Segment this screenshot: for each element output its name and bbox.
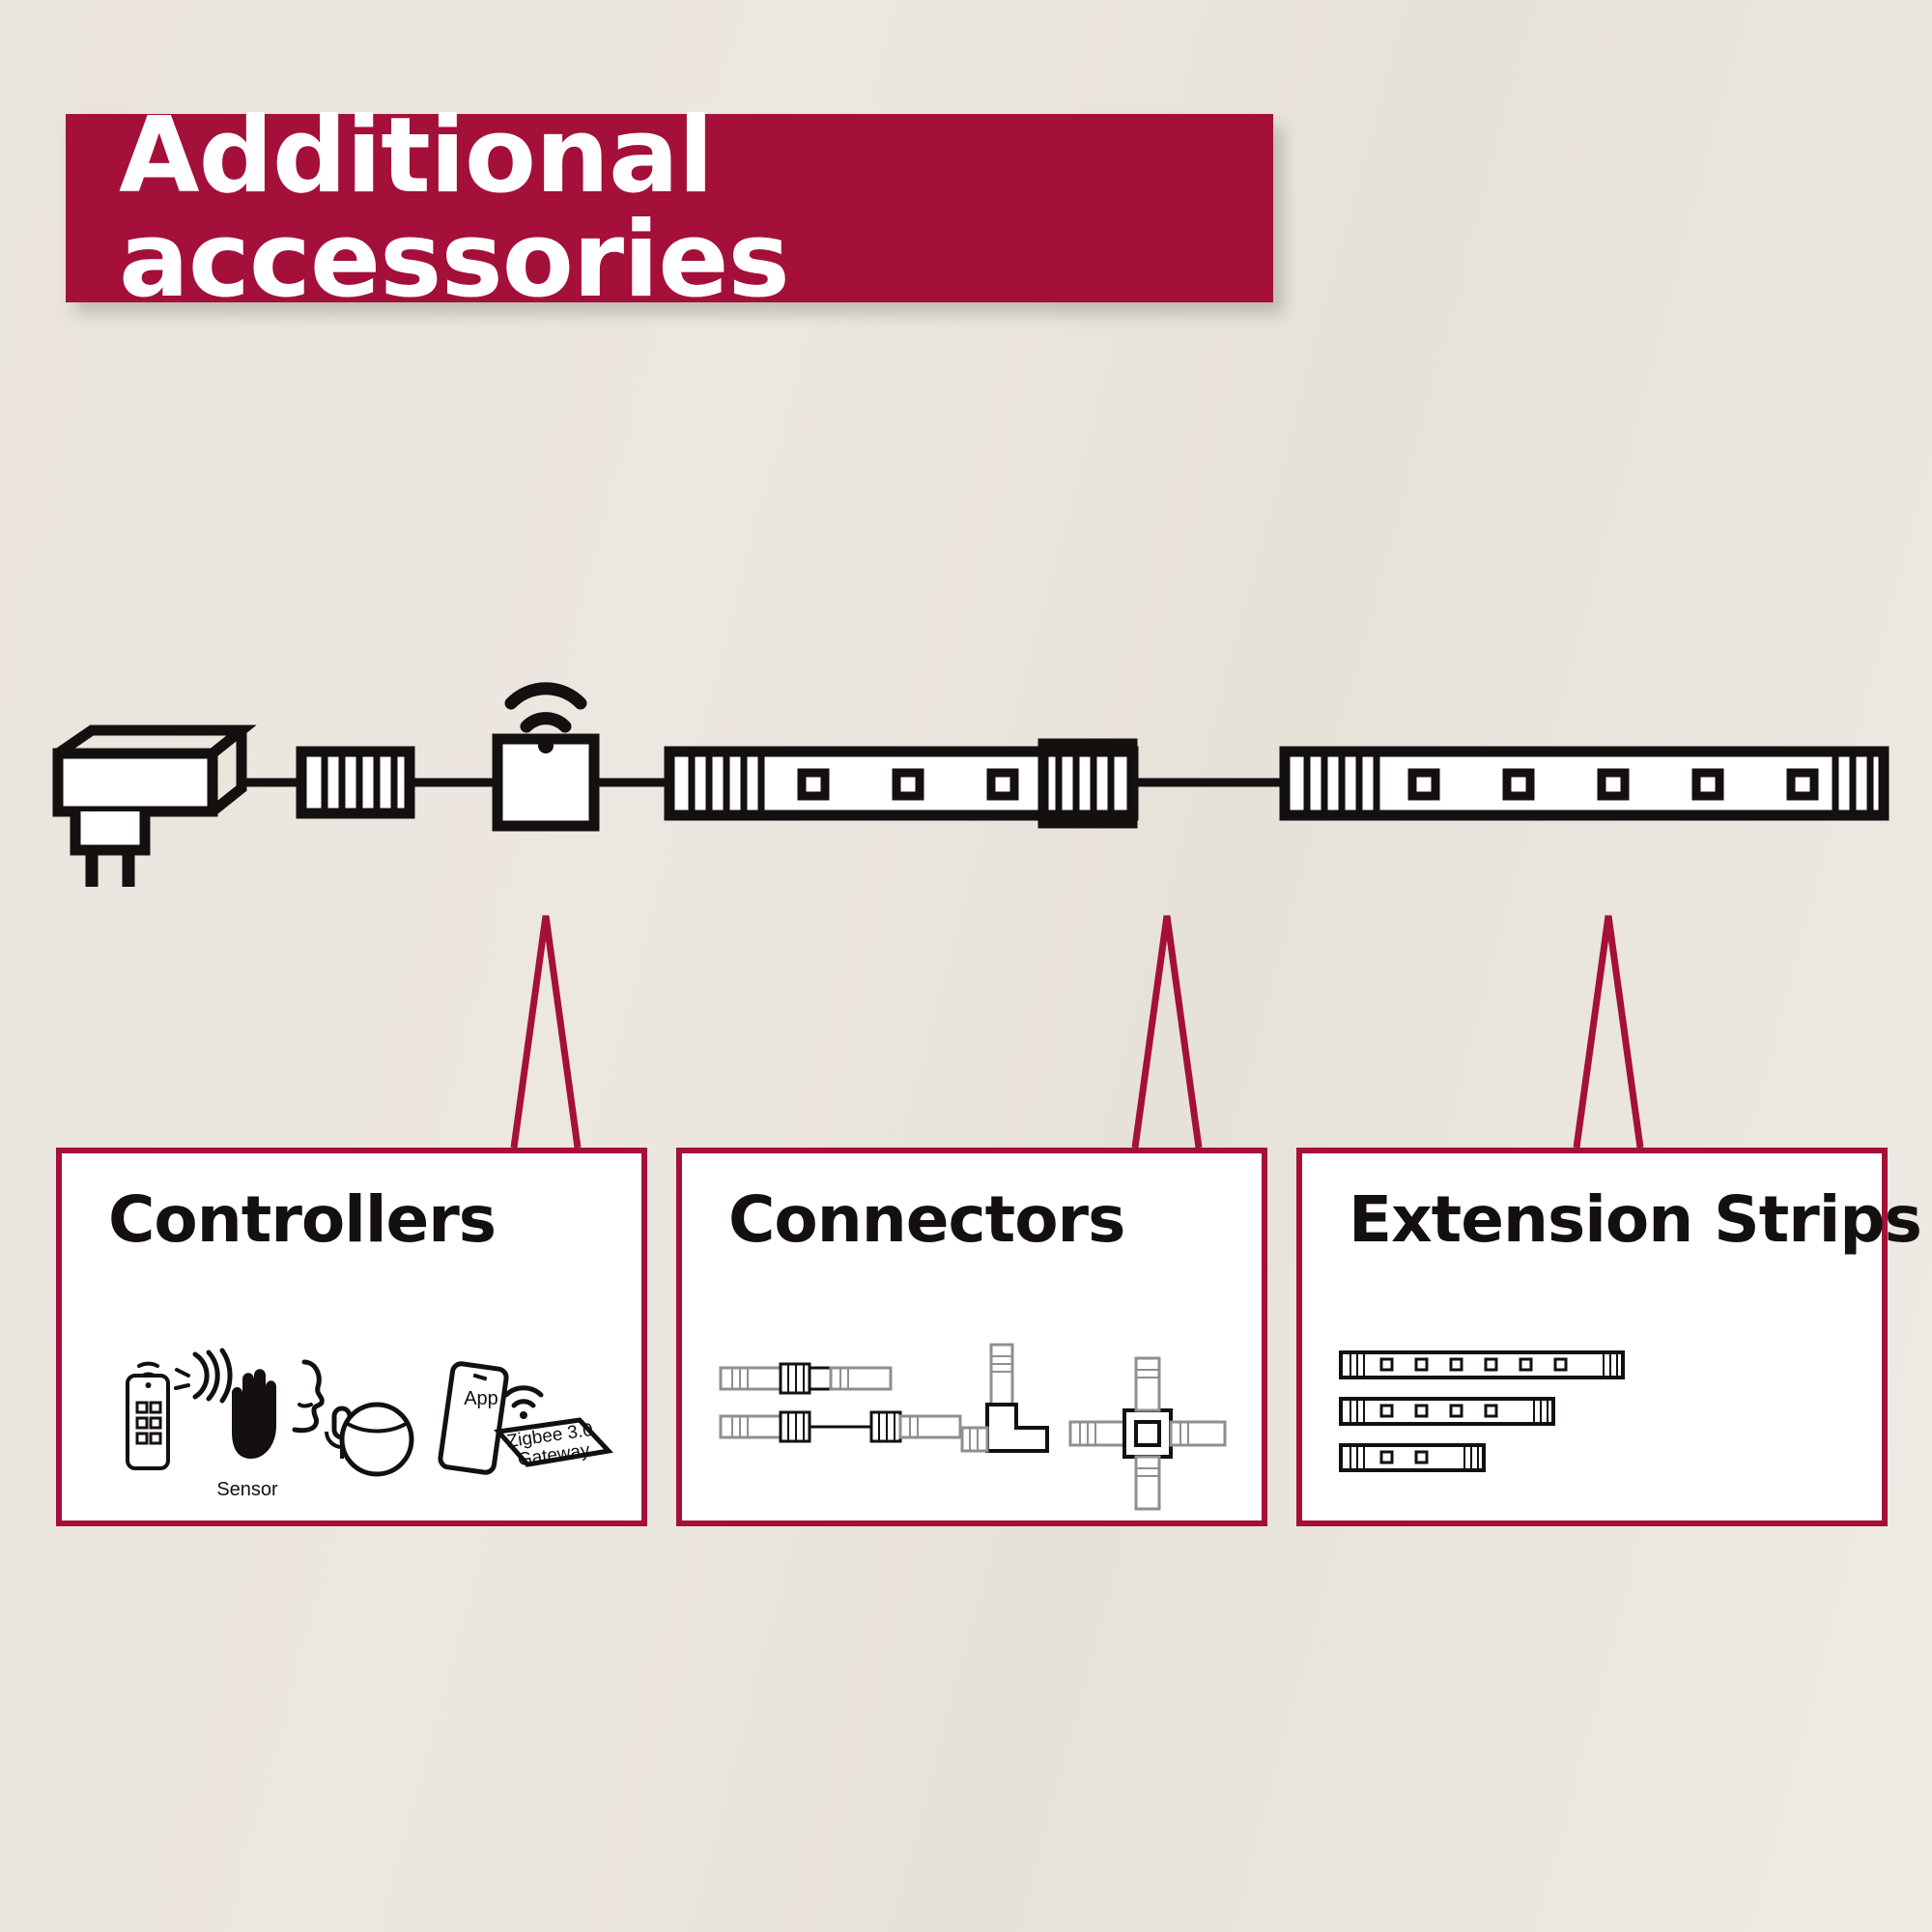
hand-icon (232, 1369, 276, 1459)
smartphone-app-icon (440, 1363, 507, 1474)
smart-speaker-icon (342, 1405, 412, 1474)
extension-strip-short-icon (1341, 1445, 1484, 1470)
extension-strip-long-icon (1341, 1352, 1623, 1378)
extension-strip-medium-icon (1341, 1399, 1553, 1424)
sensor-label: Sensor (216, 1479, 278, 1500)
callout-controllers (514, 916, 578, 1148)
cross-connector-icon (1070, 1358, 1225, 1509)
card-connectors[interactable]: Connectors (676, 1148, 1267, 1526)
strip-connector-1 (301, 752, 410, 813)
card-extensions[interactable]: Extension Strips (1296, 1148, 1888, 1526)
remote-control-icon (128, 1364, 168, 1468)
connectors-icon-row (682, 1316, 1273, 1528)
power-supply-plug (58, 730, 241, 887)
app-label: App (464, 1388, 498, 1409)
callout-extensions (1577, 916, 1640, 1148)
diagram-stage: Additional accessories (0, 0, 1932, 1932)
led-strip-segment-2 (1285, 752, 1884, 815)
callout-connectors (1135, 916, 1199, 1148)
led-system-diagram (0, 0, 1932, 1159)
motion-sensor-hand-icon (176, 1350, 230, 1401)
led-strip-segment-1 (669, 752, 1133, 815)
card-controllers[interactable]: Controllers (56, 1148, 647, 1526)
card-controllers-title: Controllers (108, 1182, 496, 1257)
callout-pointers (514, 916, 1640, 1148)
card-extensions-title: Extension Strips (1349, 1182, 1921, 1257)
extension-strips-icon-row (1302, 1316, 1893, 1528)
card-connectors-title: Connectors (728, 1182, 1124, 1257)
corner-connector-icon (962, 1345, 1047, 1451)
voice-assistant-icon (295, 1362, 322, 1431)
app-wifi-icon (506, 1388, 541, 1419)
strip-to-strip-connector-icon (721, 1364, 960, 1441)
controllers-icon-row: Sensor App (62, 1316, 653, 1528)
